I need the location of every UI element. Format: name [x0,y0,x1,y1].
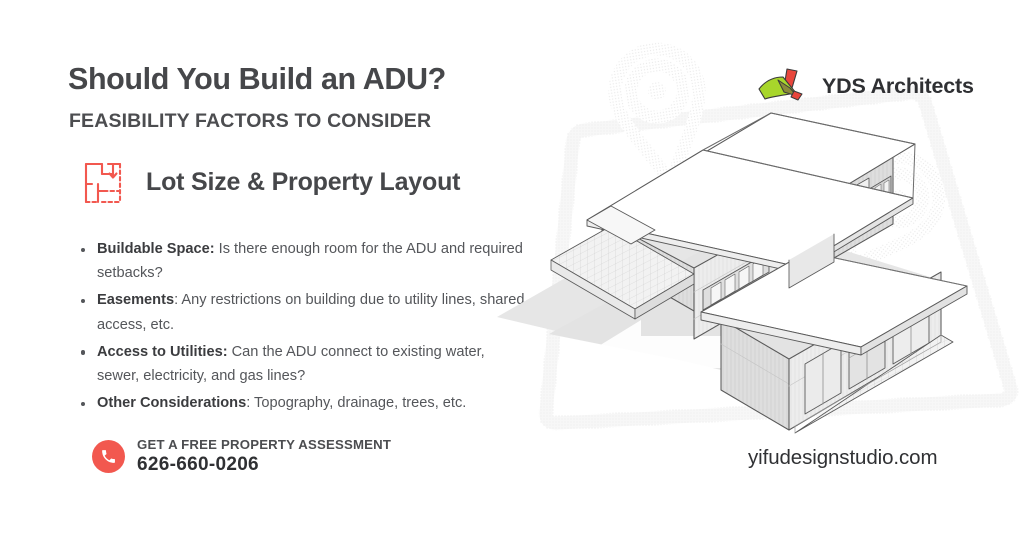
list-item: Easements: Any restrictions on building … [78,288,528,336]
contact-text: GET A FREE PROPERTY ASSESSMENT 626-660-0… [137,437,391,476]
bullet-term: Access to Utilities: [97,344,228,360]
phone-icon [100,448,117,465]
section-header: Lot Size & Property Layout [82,158,460,206]
contact-phone-number[interactable]: 626-660-0206 [137,453,391,476]
floor-plan-icon [82,158,128,206]
infographic-canvas: Should You Build an ADU? FEASIBILITY FAC… [0,0,1024,538]
section-heading: Lot Size & Property Layout [146,168,460,197]
bullet-description: : Topography, drainage, trees, etc. [246,395,466,411]
contact-block[interactable]: GET A FREE PROPERTY ASSESSMENT 626-660-0… [92,437,391,476]
contact-label: GET A FREE PROPERTY ASSESSMENT [137,437,391,453]
phone-icon-badge [92,440,125,473]
brand-name: YDS Architects [822,74,974,99]
page-title: Should You Build an ADU? [68,62,446,97]
page-subtitle: FEASIBILITY FACTORS TO CONSIDER [69,110,431,133]
list-item: Buildable Space: Is there enough room fo… [78,237,528,285]
brand-lockup[interactable]: YDS Architects [756,66,974,106]
bullet-term: Buildable Space: [97,241,215,257]
list-item: Access to Utilities: Can the ADU connect… [78,340,528,388]
bullet-term: Easements [97,292,174,308]
bullet-term: Other Considerations [97,395,246,411]
yds-logo-icon [756,66,810,106]
list-item: Other Considerations: Topography, draina… [78,391,528,415]
left-content-column: Should You Build an ADU? FEASIBILITY FAC… [0,0,545,538]
feasibility-bullet-list: Buildable Space: Is there enough room fo… [78,237,528,418]
website-url[interactable]: yifudesignstudio.com [748,446,937,470]
